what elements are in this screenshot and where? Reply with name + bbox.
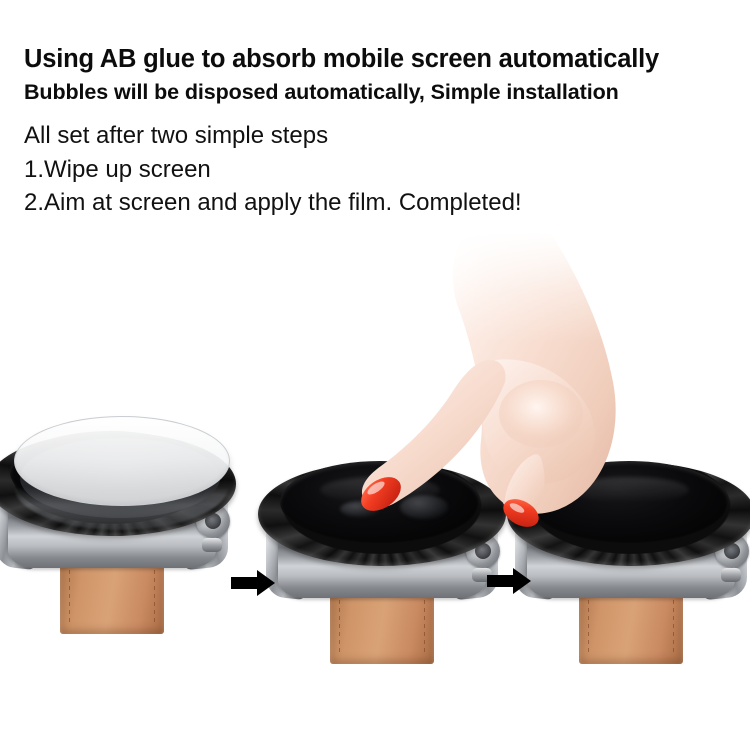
arrow-head xyxy=(257,570,275,596)
step-1-text: 1.Wipe up screen xyxy=(24,153,734,186)
headline: Using AB glue to absorb mobile screen au… xyxy=(24,44,734,74)
screen-protector-film xyxy=(14,416,230,506)
arrow-right-icon xyxy=(231,570,277,596)
hand-illustration xyxy=(345,232,645,532)
lede-text: All set after two simple steps xyxy=(24,119,734,153)
arrow-shaft xyxy=(487,575,515,587)
step-2-text: 2.Aim at screen and apply the film. Comp… xyxy=(24,186,734,219)
hand-top-fade xyxy=(345,232,645,342)
watch-side-button xyxy=(721,568,741,582)
watch-side-button xyxy=(202,538,222,552)
arrow-shaft xyxy=(231,577,259,589)
arrow-head xyxy=(513,568,531,594)
product-infographic: Using AB glue to absorb mobile screen au… xyxy=(0,0,750,750)
watch-step-1 xyxy=(0,420,236,650)
copy-block: Using AB glue to absorb mobile screen au… xyxy=(24,44,734,219)
knuckle-highlight xyxy=(499,380,583,448)
arrow-right-icon xyxy=(487,568,533,594)
subhead: Bubbles will be disposed automatically, … xyxy=(24,77,734,107)
